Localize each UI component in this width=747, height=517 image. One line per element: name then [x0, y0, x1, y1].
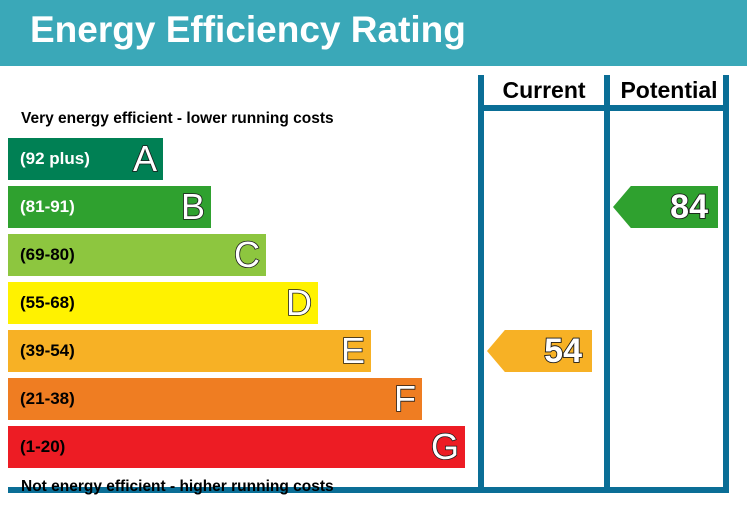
chart-title: Energy Efficiency Rating: [30, 9, 466, 51]
column-divider-right: [723, 75, 729, 492]
band-f: (21-38)F: [8, 378, 422, 420]
band-range-label-g: (1-20): [20, 426, 65, 468]
band-range-label-f: (21-38): [20, 378, 75, 420]
band-range-label-b: (81-91): [20, 186, 75, 228]
rating-value-potential: 84: [670, 185, 708, 229]
column-header-potential: Potential: [610, 76, 728, 104]
band-range-label-c: (69-80): [20, 234, 75, 276]
band-letter-b: B: [181, 185, 205, 229]
band-b: (81-91)B: [8, 186, 211, 228]
caption-very-efficient: Very energy efficient - lower running co…: [21, 110, 334, 128]
band-letter-c: C: [234, 233, 260, 277]
band-range-label-d: (55-68): [20, 282, 75, 324]
caption-not-efficient: Not energy efficient - higher running co…: [21, 478, 334, 496]
band-letter-d: D: [286, 281, 312, 325]
band-letter-a: A: [133, 137, 157, 181]
column-rule-potential: [604, 105, 729, 111]
column-rule-current: [478, 105, 610, 111]
band-range-label-a: (92 plus): [20, 138, 90, 180]
column-divider-middle: [604, 75, 610, 492]
chart-header-band: Energy Efficiency Rating: [0, 0, 747, 66]
band-e: (39-54)E: [8, 330, 371, 372]
energy-efficiency-rating-chart: Energy Efficiency Rating Current Potenti…: [0, 0, 747, 517]
band-a: (92 plus)A: [8, 138, 163, 180]
band-d: (55-68)D: [8, 282, 318, 324]
band-g: (1-20)G: [8, 426, 465, 468]
band-letter-f: F: [394, 377, 416, 421]
rating-arrow-potential: 84: [613, 186, 718, 228]
column-header-current: Current: [484, 76, 604, 104]
band-letter-e: E: [341, 329, 365, 373]
band-letter-g: G: [431, 425, 459, 469]
rating-value-current: 54: [544, 329, 582, 373]
rating-arrow-current: 54: [487, 330, 592, 372]
column-divider-left: [478, 75, 484, 492]
band-c: (69-80)C: [8, 234, 266, 276]
band-range-label-e: (39-54): [20, 330, 75, 372]
